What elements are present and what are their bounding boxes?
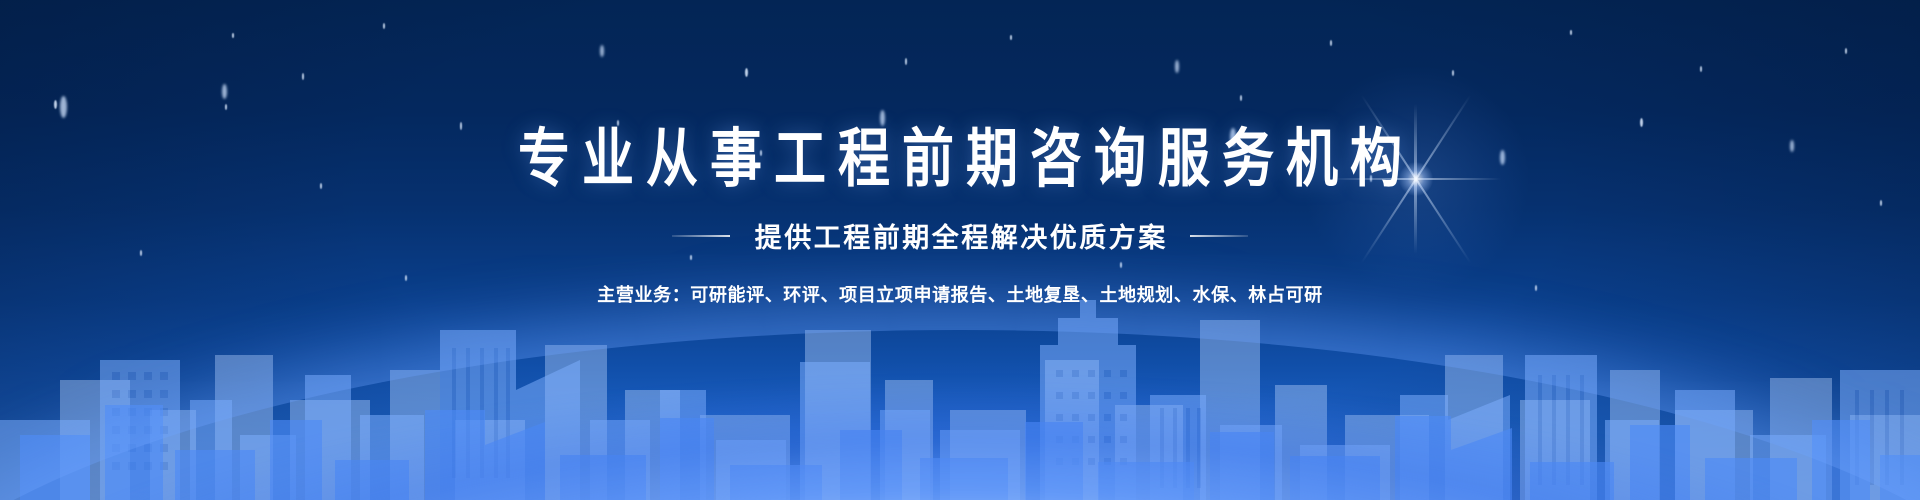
page-title: 专业从事工程前期咨询服务机构	[0, 128, 1920, 191]
subtitle-row: 提供工程前期全程解决优质方案	[0, 216, 1920, 255]
hero-banner: 专业从事工程前期咨询服务机构 提供工程前期全程解决优质方案 主营业务：可研能评、…	[0, 0, 1920, 500]
divider-left-icon	[672, 235, 730, 237]
page-subtitle: 提供工程前期全程解决优质方案	[752, 216, 1168, 255]
divider-right-icon	[1190, 235, 1248, 237]
hero-text-block: 专业从事工程前期咨询服务机构 提供工程前期全程解决优质方案 主营业务：可研能评、…	[0, 0, 1920, 307]
business-scope-text: 主营业务：可研能评、环评、项目立项申请报告、土地复垦、土地规划、水保、林占可研	[0, 281, 1920, 307]
